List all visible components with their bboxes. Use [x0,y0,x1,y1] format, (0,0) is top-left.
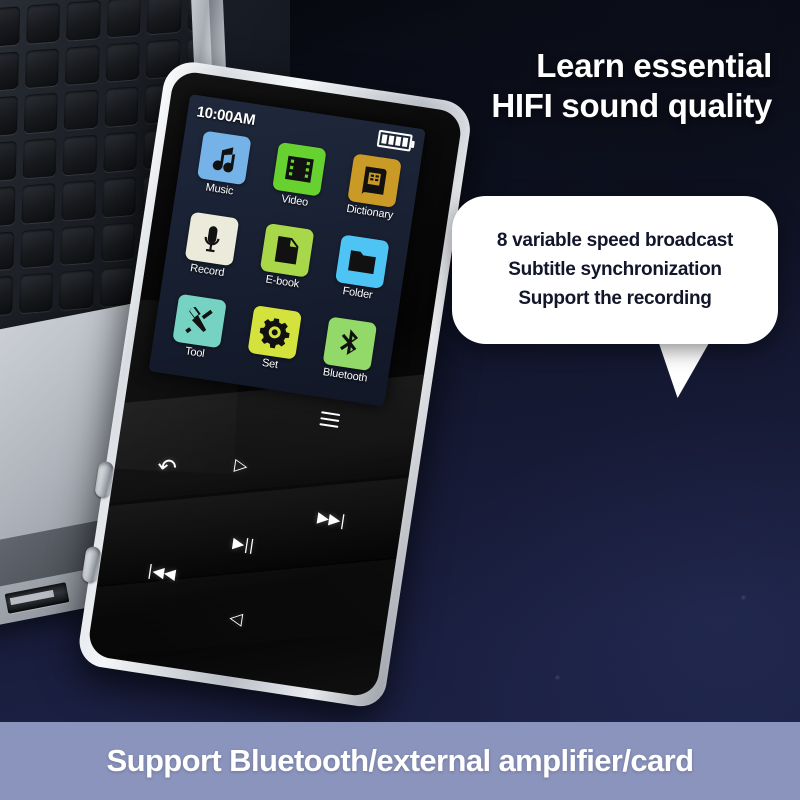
keyboard-key [20,228,54,269]
keyboard-key [26,3,60,44]
previous-track-button[interactable]: |◀◀ [147,563,177,582]
back-button[interactable]: ↶ [156,455,179,481]
app-icon-set[interactable]: Set [232,303,313,392]
keyboard-key [63,135,97,176]
bottom-banner: Support Bluetooth/external amplifier/car… [0,722,800,800]
advertisement-stage: 10:00AM MusicVideoDictionaryRecordE-book… [0,0,800,800]
background-speck [556,676,559,679]
gear-icon [247,305,302,360]
keyboard-key [24,93,58,134]
menu-button[interactable] [319,411,340,428]
feature-line: Support the recording [518,288,711,310]
keyboard-key [0,96,18,137]
app-label: Set [261,357,279,371]
headline-line-2: HIFI sound quality [491,86,772,126]
app-icon-record[interactable]: Record [169,210,250,299]
headline-line-1: Learn essential [491,46,772,86]
keyboard-key [23,138,57,179]
keyboard-key [107,0,141,37]
feature-line: Subtitle synchronization [508,259,721,281]
app-label: Record [189,262,225,279]
banner-text: Support Bluetooth/external amplifier/car… [107,743,694,779]
keyboard-key [64,90,98,131]
keyboard-key [0,276,13,317]
app-label: Music [205,182,234,198]
keyboard-key [19,273,53,314]
folder-icon [335,235,390,290]
down-button[interactable]: ◁ [228,610,243,629]
up-button[interactable]: ▷ [233,457,248,476]
app-icon-bluetooth[interactable]: Bluetooth [307,314,388,403]
app-label: Folder [342,285,373,301]
keyboard-key [21,183,55,224]
app-label: Video [280,193,308,209]
keyboard-key [102,176,136,217]
glass-reflection [86,553,463,663]
keyboard-key [65,45,99,86]
keyboard-key [0,6,20,47]
keyboard-key [0,231,14,272]
bluetooth-icon [323,316,378,371]
keyboard-key [104,87,138,128]
background-speck [742,596,745,599]
feature-speech-bubble: 8 variable speed broadcast Subtitle sync… [452,196,778,344]
keyboard-key [101,221,135,262]
page-headline: Learn essential HIFI sound quality [491,46,772,127]
keyboard-key [105,42,139,83]
next-track-button[interactable]: ▶▶| [316,510,346,529]
app-icon-tool[interactable]: Tool [157,292,238,381]
app-icon-video[interactable]: Video [257,140,338,229]
feature-line: 8 variable speed broadcast [497,230,733,252]
music-note-icon [197,131,252,186]
keyboard-key [0,51,19,92]
keyboard-key [0,141,17,182]
app-icon-e-book[interactable]: E-book [244,222,325,311]
keyboard-key [59,270,93,311]
keyboard-key [66,0,100,40]
app-label: Tool [184,345,205,360]
keyboard-key [25,48,59,89]
app-icon-folder[interactable]: Folder [319,233,400,322]
app-icon-grid: MusicVideoDictionaryRecordE-bookFolderTo… [149,128,421,405]
keyboard-key [60,225,94,266]
play-pause-button[interactable]: ▶|| [232,536,256,554]
app-icon-music[interactable]: Music [181,129,262,218]
device-screen: 10:00AM MusicVideoDictionaryRecordE-book… [149,94,426,406]
keyboard-key [100,266,134,307]
keyboard-key [147,0,181,34]
battery-full-icon [377,130,413,152]
keyboard-key [103,132,137,173]
keyboard-key [0,186,15,227]
book-icon [347,153,402,208]
hamburger-menu-icon [319,411,340,428]
clock-label: 10:00AM [196,103,257,129]
tools-icon [172,293,227,348]
microphone-icon [185,212,240,267]
app-label: E-book [265,274,300,291]
keyboard-key [62,180,96,221]
app-icon-dictionary[interactable]: Dictionary [332,152,413,241]
film-strip-icon [272,142,327,197]
document-icon [260,223,315,278]
